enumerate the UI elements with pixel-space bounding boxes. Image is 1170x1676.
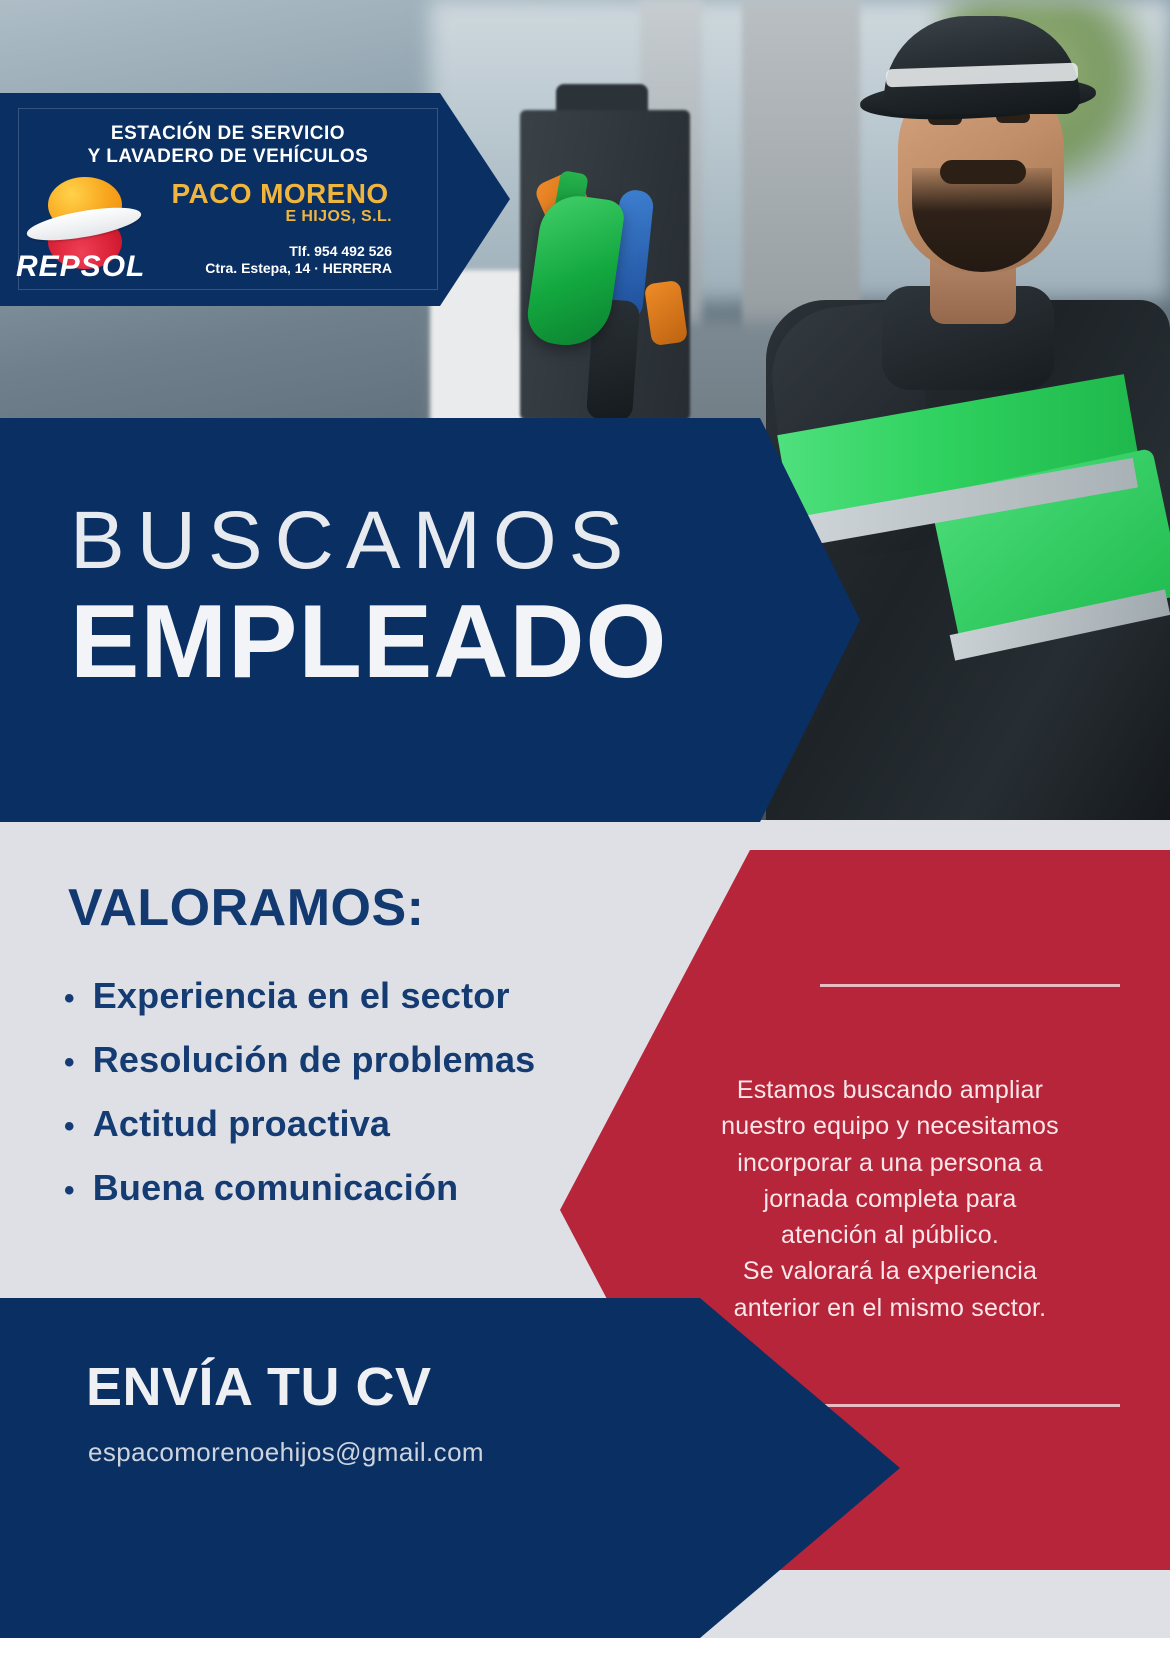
description-line: incorporar a una persona a	[700, 1145, 1080, 1181]
contact-address: Ctra. Estepa, 14 · HERRERA	[118, 260, 410, 276]
company-name: PACO MORENO	[150, 178, 410, 210]
list-item: • Experiencia en el sector	[64, 975, 664, 1017]
contact-phone: Tlf. 954 492 526	[150, 243, 410, 259]
requirement-label: Actitud proactiva	[93, 1103, 390, 1145]
description-line: Estamos buscando ampliar	[700, 1072, 1080, 1108]
cta-title: ENVÍA TU CV	[86, 1356, 432, 1418]
description-text: Estamos buscando ampliar nuestro equipo …	[700, 1072, 1080, 1326]
footer-strip	[0, 1638, 1170, 1676]
brand-service-line1: ESTACIÓN DE SERVICIO	[38, 122, 418, 145]
list-item: • Actitud proactiva	[64, 1103, 664, 1145]
company-legal-suffix: E HIJOS, S.L.	[150, 208, 410, 226]
description-line: jornada completa para	[700, 1181, 1080, 1217]
brand-service-title: ESTACIÓN DE SERVICIO Y LAVADERO DE VEHÍC…	[38, 122, 418, 168]
description-line: anterior en el mismo sector.	[700, 1290, 1080, 1326]
requirement-label: Buena comunicación	[93, 1167, 459, 1209]
description-line: atención al público.	[700, 1217, 1080, 1253]
requirement-label: Experiencia en el sector	[93, 975, 510, 1017]
brand-service-line2: Y LAVADERO DE VEHÍCULOS	[38, 145, 418, 168]
divider-top	[820, 984, 1120, 987]
requirements-title: VALORAMOS:	[68, 878, 424, 938]
cta-panel	[0, 1298, 900, 1676]
divider-bottom	[820, 1404, 1120, 1407]
bullet-icon: •	[64, 1048, 75, 1078]
bullet-icon: •	[64, 1176, 75, 1206]
description-line: Se valorará la experiencia	[700, 1253, 1080, 1289]
headline-line-2: EMPLEADO	[70, 590, 667, 694]
job-advert-poster: ESTACIÓN DE SERVICIO Y LAVADERO DE VEHÍC…	[0, 0, 1170, 1676]
bullet-icon: •	[64, 1112, 75, 1142]
requirements-list: • Experiencia en el sector • Resolución …	[64, 975, 664, 1231]
worker-mustache	[940, 160, 1026, 184]
requirement-label: Resolución de problemas	[93, 1039, 536, 1081]
list-item: • Resolución de problemas	[64, 1039, 664, 1081]
bullet-icon: •	[64, 984, 75, 1014]
cta-email-link[interactable]: espacomorenoehijos@gmail.com	[88, 1437, 484, 1468]
list-item: • Buena comunicación	[64, 1167, 664, 1209]
headline-line-1: BUSCAMOS	[70, 500, 635, 582]
description-line: nuestro equipo y necesitamos	[700, 1108, 1080, 1144]
